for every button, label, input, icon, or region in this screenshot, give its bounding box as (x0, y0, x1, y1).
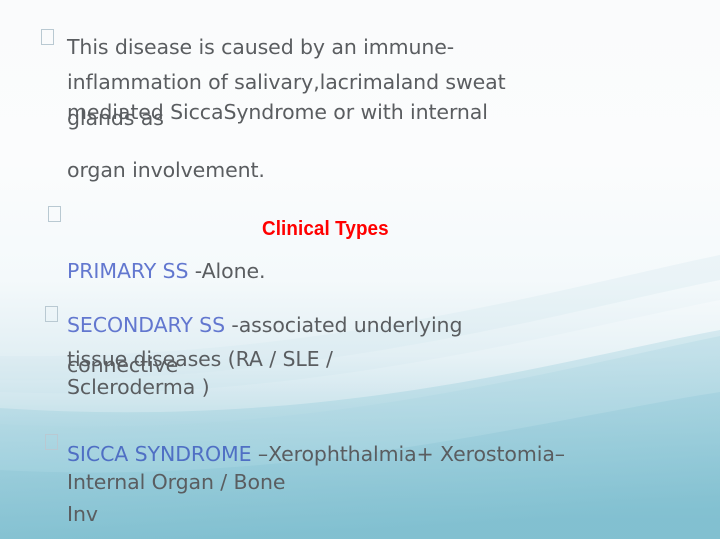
primary-ss-rest: -Alone. (188, 259, 265, 283)
bullet-square-icon-3 (45, 306, 58, 322)
slide-content: This disease is caused by an immune- inf… (0, 0, 720, 539)
paragraph1-line4: organ involvement. (67, 156, 265, 184)
secondary-ss-label: SECONDARY SS (67, 313, 225, 337)
sicca-syndrome-line3: Inv (67, 500, 98, 528)
clinical-types-heading: Clinical Types (262, 215, 389, 243)
secondary-ss-line: SECONDARY SS -associated underlying (67, 311, 462, 339)
presentation-slide: This disease is caused by an immune- inf… (0, 0, 720, 539)
primary-ss-label: PRIMARY SS (67, 259, 188, 283)
bullet-square-icon-4 (45, 434, 58, 450)
sicca-syndrome-line2: Internal Organ / Bone (67, 468, 285, 496)
bullet-square-icon-2 (48, 206, 61, 222)
secondary-ss-line3: Scleroderma ) (67, 373, 210, 401)
paragraph1-line3-overlap-b: glands as (67, 104, 164, 132)
paragraph1-line2: inflammation of salivary,lacrimaland swe… (67, 68, 506, 96)
secondary-ss-rest: -associated underlying (225, 313, 462, 337)
bullet-square-icon-1 (41, 29, 54, 45)
sicca-syndrome-rest: –Xerophthalmia+ Xerostomia– (252, 442, 565, 466)
sicca-syndrome-label: SICCA SYNDROME (67, 442, 252, 466)
sicca-syndrome-line: SICCA SYNDROME –Xerophthalmia+ Xerostomi… (67, 440, 565, 468)
primary-ss-line: PRIMARY SS -Alone. (67, 257, 265, 285)
paragraph1-line1: This disease is caused by an immune- (67, 33, 454, 61)
